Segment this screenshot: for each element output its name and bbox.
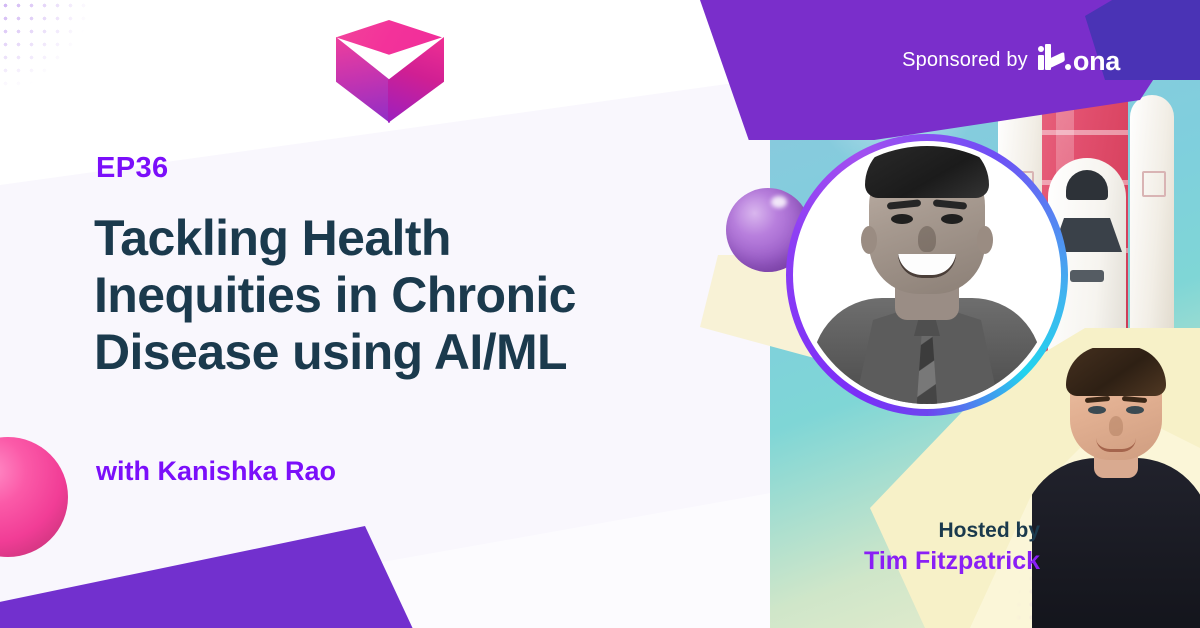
guest-ear-left [861,226,877,254]
guest-avatar-inner [793,141,1061,409]
guest-avatar-ring [786,134,1068,416]
ikona-logo: ona [1037,44,1120,77]
logo-dot-icon [1065,64,1071,70]
sponsored-by-label: Sponsored by [902,49,1028,72]
host-eye-right [1126,406,1144,414]
guest-ear-right [977,226,993,254]
guest-eye-left [891,214,913,224]
host-name: Tim Fitzpatrick [864,546,1040,577]
sponsor-block: Sponsored by ona [902,44,1120,77]
host-credit-block: Hosted by Tim Fitzpatrick [864,518,1040,576]
podcast-episode-card: EP36 Tackling Health Inequities in Chron… [0,0,1200,628]
host-hair [1066,348,1166,396]
guest-nose [918,226,936,252]
logo-letters-ona: ona [1073,46,1120,77]
guest-eye-right [941,214,963,224]
tank-ring-1 [1042,130,1128,135]
guest-credit: with Kanishka Rao [96,456,336,487]
orbiter-hatch [1070,270,1104,282]
guest-hair [865,146,989,198]
page-title: Tackling Health Inequities in Chronic Di… [94,210,714,381]
host-torso [1032,458,1200,628]
title-line-1: Tackling Health [94,210,714,267]
host-nose [1109,416,1123,436]
episode-number: EP36 [96,152,169,185]
host-eye-left [1088,406,1106,414]
title-line-3: Disease using AI/ML [94,324,714,381]
logo-letter-k-icon [1045,44,1062,70]
orbiter-cockpit [1066,170,1108,200]
isometric-cube-icon [330,20,448,130]
hosted-by-label: Hosted by [864,518,1040,544]
avatar [798,146,1056,404]
title-line-2: Inequities in Chronic [94,267,714,324]
host-photo [1032,348,1200,628]
